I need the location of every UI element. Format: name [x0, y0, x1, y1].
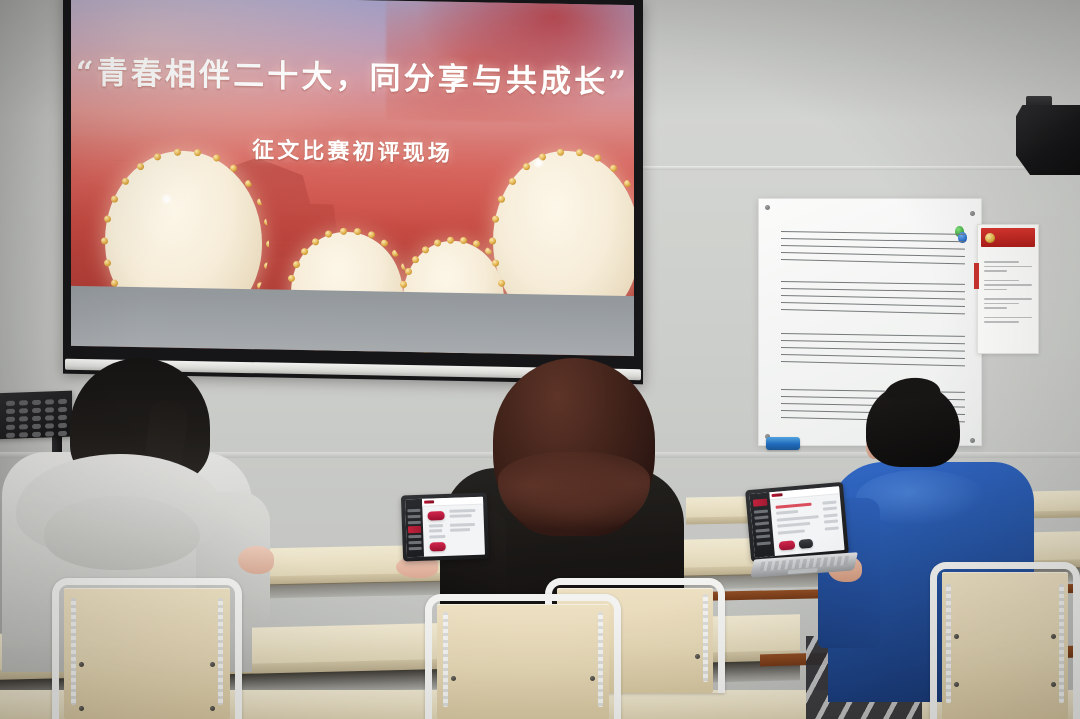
drum-stud — [492, 216, 499, 223]
laptop-center-logo — [424, 500, 434, 503]
staff-line — [781, 340, 965, 344]
drum-stud — [122, 178, 129, 185]
drum-stud — [354, 228, 361, 235]
music-stand-hole — [45, 407, 54, 412]
chair-bolt — [79, 706, 84, 711]
staff-line — [781, 333, 965, 337]
drum-stud — [340, 228, 347, 235]
drum-stud — [137, 163, 144, 170]
music-stand-hole — [19, 416, 28, 421]
classroom-photo: “青春相伴二十大，同分享与共成长” 征文比赛初评现场 — [0, 0, 1080, 719]
person-left-hood-fold — [44, 496, 200, 570]
laptop-center-sidebar[interactable] — [405, 499, 424, 558]
poster-header — [981, 228, 1035, 247]
drum-stud — [492, 259, 499, 266]
music-stand-hole — [45, 431, 54, 436]
whiteboard-screw — [970, 211, 975, 216]
wall-notice-poster — [977, 224, 1039, 354]
chair-slot — [71, 598, 76, 705]
music-stand-hole — [19, 408, 28, 413]
drum-stud — [104, 216, 111, 223]
drum-stud — [489, 238, 496, 245]
poster-text-gap — [984, 275, 1032, 280]
chair-slot — [598, 612, 603, 707]
chair-right[interactable] — [930, 562, 1080, 719]
laptop-right[interactable] — [745, 482, 849, 562]
wall-speaker — [1016, 105, 1080, 175]
poster-text-line — [984, 280, 1019, 282]
laptop-center-topbar — [422, 497, 483, 507]
music-stand-hole — [19, 432, 28, 437]
music-stand-hole — [58, 407, 67, 412]
drum-stud — [447, 236, 454, 243]
music-stand-hole — [45, 415, 54, 420]
chair-slot — [703, 594, 708, 681]
drum-stud — [264, 262, 270, 269]
staff-line — [781, 347, 965, 352]
drum-stud — [381, 239, 388, 246]
chair-slot — [443, 612, 448, 707]
slide-dead-band — [71, 286, 634, 356]
drum-stud — [104, 259, 111, 266]
drum-stud — [257, 198, 264, 205]
drum-stud — [340, 355, 347, 357]
laptop-right-screen[interactable] — [749, 486, 844, 558]
chair-front-center[interactable] — [425, 594, 621, 719]
chair-slot — [1059, 584, 1064, 703]
music-stand-hole — [19, 424, 28, 429]
drum-stud — [412, 256, 419, 263]
chair-bolt — [695, 654, 700, 659]
music-stand-hole — [58, 399, 67, 404]
drum-stud — [473, 354, 480, 356]
staff-line — [781, 302, 965, 307]
chair-bolt — [210, 706, 215, 711]
music-stand-hole — [6, 409, 15, 414]
person-left-hand — [238, 546, 274, 574]
laptop-right-logo — [771, 493, 782, 497]
drum-stud — [301, 248, 308, 255]
drum-stud — [498, 280, 505, 287]
projection-screen-surface: “青春相伴二十大，同分享与共成长” 征文比赛初评现场 — [71, 0, 634, 356]
music-stand-hole — [6, 417, 15, 422]
drum-stud — [460, 237, 467, 244]
drum-stud — [434, 353, 441, 356]
music-stand-hole — [58, 415, 67, 420]
drum-stud — [498, 196, 505, 203]
music-stand-hole — [32, 400, 41, 405]
poster-text-line — [984, 321, 1019, 323]
poster-body-text — [984, 261, 1032, 326]
drum-stud — [368, 351, 375, 356]
chair-bolt — [1051, 682, 1056, 687]
staff-line — [781, 309, 965, 314]
chair-bolt — [954, 634, 959, 639]
drum-stud — [434, 240, 441, 247]
laptop-right-sidebar[interactable] — [749, 492, 774, 557]
poster-text-line — [984, 307, 1007, 309]
staff-line — [781, 231, 965, 235]
chair-bolt — [210, 662, 215, 667]
staff-line — [781, 354, 965, 359]
laptop-center-lid — [401, 493, 489, 562]
chair-right-back — [942, 572, 1068, 719]
staff-line — [781, 281, 965, 285]
poster-text-line — [984, 317, 1032, 319]
laptop-right-action-button-2[interactable] — [799, 539, 814, 549]
laptop-right-sidebar-active-item[interactable] — [753, 499, 768, 507]
laptop-center-screen[interactable] — [405, 497, 485, 558]
laptop-right-topbar — [769, 486, 840, 500]
poster-red-tab — [974, 263, 979, 289]
laptop-right-action-button-1[interactable] — [779, 540, 796, 550]
drum-stud — [245, 180, 252, 187]
drum-stud — [422, 246, 429, 253]
drum-stud — [111, 195, 118, 202]
staff-line — [781, 238, 965, 242]
music-stand-hole — [45, 399, 54, 404]
whiteboard-eraser[interactable] — [766, 437, 800, 450]
drum-stud — [392, 250, 399, 257]
chair-bolt — [451, 676, 456, 681]
drum-stud — [288, 275, 295, 282]
laptop-center-sidebar-active-item[interactable] — [408, 526, 421, 533]
drum-stud — [325, 351, 332, 357]
poster-text-line — [984, 298, 1032, 300]
chair-slot — [218, 598, 223, 705]
perforated-music-stand — [0, 391, 72, 440]
music-stand-hole — [32, 432, 41, 437]
drum-stud — [400, 281, 407, 288]
drum-stud — [266, 241, 269, 248]
music-stand-hole — [6, 433, 15, 438]
laptop-center-submit-button[interactable] — [430, 542, 446, 552]
drum-stud — [293, 260, 300, 267]
drum-stud — [624, 180, 631, 187]
chair-front-center-back — [437, 604, 609, 719]
drum-stud — [368, 232, 375, 239]
drum-stud — [509, 178, 516, 185]
music-stand-hole — [32, 424, 41, 429]
music-stand-hole — [58, 423, 67, 428]
whiteboard-screw — [970, 438, 975, 443]
drum-stud — [230, 165, 237, 172]
poster-text-gap — [984, 312, 1032, 317]
wall-seam — [620, 166, 1080, 170]
laptop-center-primary-button[interactable] — [427, 511, 444, 521]
chair-bolt — [79, 662, 84, 667]
music-stand-hole — [45, 423, 54, 428]
whiteboard-screw — [765, 205, 770, 210]
music-stand-hole — [19, 400, 28, 405]
chair-slot — [946, 584, 951, 703]
slide-sparkle — [161, 193, 172, 204]
poster-text-line — [984, 303, 1019, 305]
laptop-right-lid — [745, 482, 849, 562]
drum-stud — [325, 231, 332, 238]
music-stand-hole — [6, 425, 15, 430]
drum-stud — [264, 219, 270, 226]
chair-front-left[interactable] — [52, 578, 242, 719]
music-stand-hole — [32, 416, 41, 421]
staff-line — [781, 288, 965, 292]
chair-bolt — [1051, 634, 1056, 639]
poster-text-line — [984, 284, 1032, 286]
presentation-slide: “青春相伴二十大，同分享与共成长” 征文比赛初评现场 — [71, 0, 634, 356]
poster-text-line — [984, 266, 1032, 268]
drum-stud — [101, 238, 108, 245]
staff-line — [781, 295, 965, 300]
music-stand-hole — [32, 408, 41, 413]
projection-screen: “青春相伴二十大，同分享与共成长” 征文比赛初评现场 — [63, 0, 643, 384]
drum-stud — [312, 238, 319, 245]
music-stand-hole — [6, 401, 15, 406]
poster-emblem-icon — [985, 233, 995, 243]
music-stand-hole — [58, 431, 67, 436]
poster-text-line — [984, 261, 1019, 263]
staff-line — [781, 361, 965, 366]
staff-line — [781, 252, 965, 257]
chair-front-left-back — [64, 588, 230, 719]
drum-stud — [405, 268, 412, 275]
poster-text-line — [984, 270, 1007, 272]
drum-stud — [354, 355, 361, 356]
laptop-center[interactable] — [401, 493, 489, 562]
staff-line — [781, 259, 965, 264]
drum-stud — [473, 240, 480, 247]
poster-text-line — [984, 289, 1007, 291]
chair-bolt — [954, 682, 959, 687]
chair-bolt — [590, 676, 595, 681]
staff-line — [781, 245, 965, 250]
